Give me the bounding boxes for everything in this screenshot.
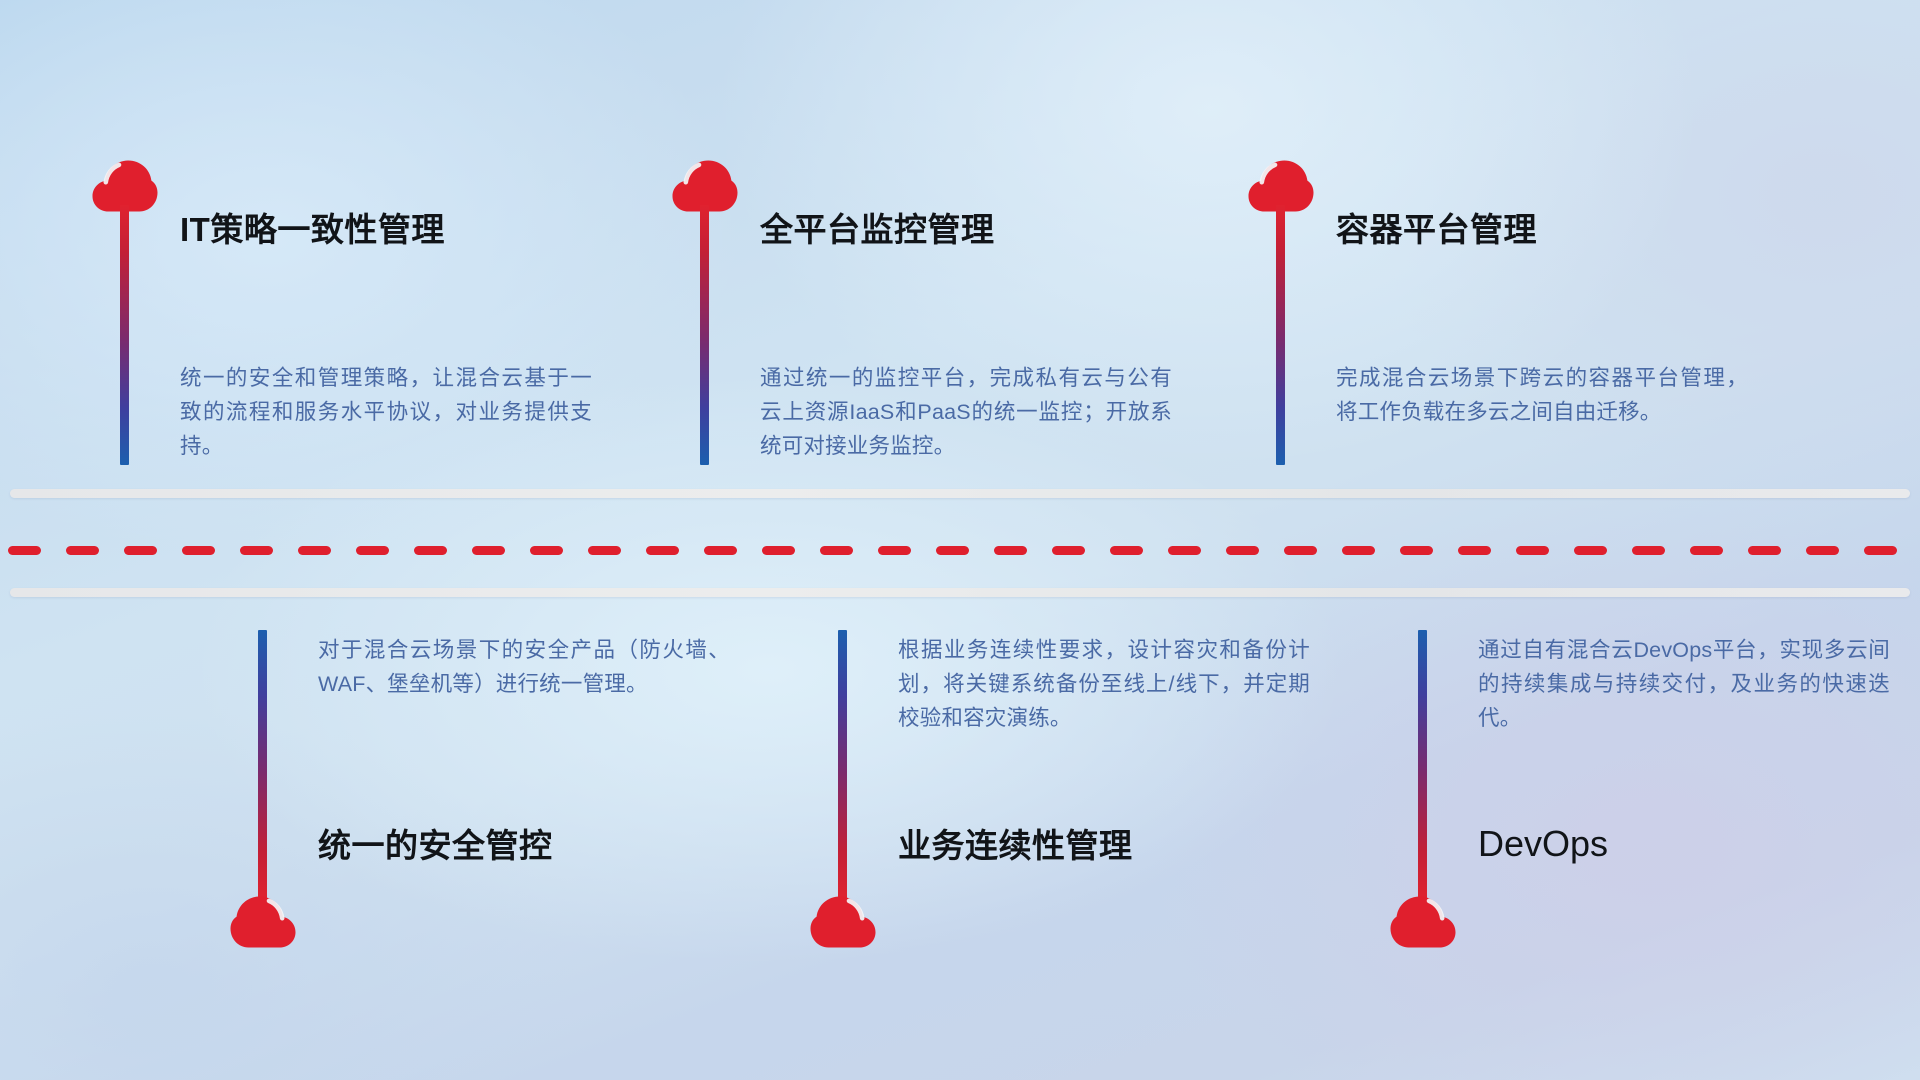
divider-dash — [1110, 546, 1143, 555]
divider-bar-top — [10, 489, 1910, 498]
stem-gradient-line — [700, 205, 709, 465]
stem-gradient-line — [258, 630, 267, 900]
divider-dash — [1632, 546, 1665, 555]
cloud-icon — [810, 896, 876, 948]
divider-bar-bottom — [10, 588, 1910, 597]
card-heading: 业务连续性管理 — [898, 828, 1133, 864]
divider-dash — [1052, 546, 1085, 555]
divider-dash — [762, 546, 795, 555]
cloud-icon — [230, 896, 296, 948]
card-heading: 统一的安全管控 — [318, 828, 553, 864]
divider-dash — [414, 546, 447, 555]
divider-dash — [646, 546, 679, 555]
divider-dash — [8, 546, 41, 555]
divider-dash — [124, 546, 157, 555]
divider-dash — [1690, 546, 1723, 555]
divider-dash — [1458, 546, 1491, 555]
divider-dash — [588, 546, 621, 555]
divider-dash — [1516, 546, 1549, 555]
card-heading: 全平台监控管理 — [760, 212, 995, 248]
infographic-canvas: IT策略一致性管理 统一的安全和管理策略，让混合云基于一致的流程和服务水平协议，… — [0, 0, 1920, 1080]
card-body: 根据业务连续性要求，设计容灾和备份计划，将关键系统备份至线上/线下，并定期校验和… — [898, 634, 1310, 736]
divider-dash — [1400, 546, 1433, 555]
divider-dash — [994, 546, 1027, 555]
card-heading: IT策略一致性管理 — [180, 212, 445, 248]
stem-gradient-line — [1276, 205, 1285, 465]
divider-dash — [530, 546, 563, 555]
divider-dash — [704, 546, 737, 555]
stem-gradient-line — [120, 205, 129, 465]
divider-dash — [356, 546, 389, 555]
card-body: 对于混合云场景下的安全产品（防火墙、WAF、堡垒机等）进行统一管理。 — [318, 634, 730, 702]
card-body: 统一的安全和管理策略，让混合云基于一致的流程和服务水平协议，对业务提供支持。 — [180, 362, 592, 464]
cloud-icon — [1390, 896, 1456, 948]
divider-dash — [182, 546, 215, 555]
divider-dash — [298, 546, 331, 555]
divider-dash — [472, 546, 505, 555]
card-body: 通过统一的监控平台，完成私有云与公有云上资源IaaS和PaaS的统一监控；开放系… — [760, 362, 1172, 464]
divider-dash — [1748, 546, 1781, 555]
divider-dash — [1168, 546, 1201, 555]
divider-dashed-line — [0, 546, 1920, 555]
divider-dash — [240, 546, 273, 555]
divider-dash — [1574, 546, 1607, 555]
divider-dash — [66, 546, 99, 555]
card-body: 通过自有混合云DevOps平台，实现多云间的持续集成与持续交付，及业务的快速迭代… — [1478, 634, 1890, 736]
divider-dash — [1806, 546, 1839, 555]
card-heading: DevOps — [1478, 824, 1608, 864]
stem-gradient-line — [838, 630, 847, 900]
divider-dash — [936, 546, 969, 555]
divider-dash — [878, 546, 911, 555]
card-body: 完成混合云场景下跨云的容器平台管理，将工作负载在多云之间自由迁移。 — [1336, 362, 1748, 430]
divider-dash — [1864, 546, 1897, 555]
stem-gradient-line — [1418, 630, 1427, 900]
card-heading: 容器平台管理 — [1336, 212, 1537, 248]
divider-dash — [1342, 546, 1375, 555]
divider-dash — [1226, 546, 1259, 555]
divider-dash — [820, 546, 853, 555]
divider-dash — [1284, 546, 1317, 555]
